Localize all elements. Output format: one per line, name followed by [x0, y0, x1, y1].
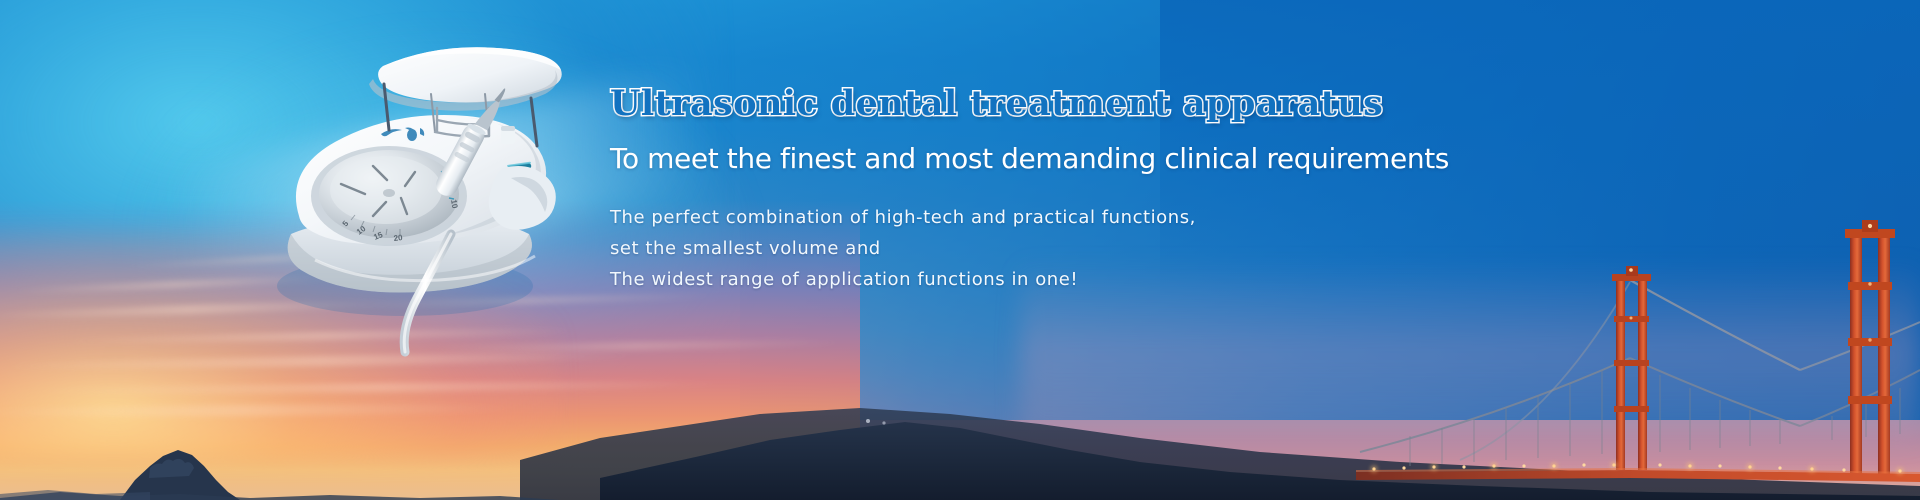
subtitle: To meet the finest and most demanding cl…: [610, 142, 1370, 175]
banner-copy: Ultrasonic dental treatment apparatus To…: [610, 86, 1370, 295]
body-line-2: set the smallest volume and: [610, 233, 1370, 264]
body-copy: The perfect combination of high-tech and…: [610, 202, 1370, 295]
svg-text:20: 20: [393, 233, 403, 243]
promotional-banner: 20 15 10 5 10: [0, 0, 1920, 500]
product-image-ultrasonic-scaler: 20 15 10 5 10: [255, 38, 615, 368]
headline: Ultrasonic dental treatment apparatus: [610, 86, 1370, 123]
body-line-1: The perfect combination of high-tech and…: [610, 202, 1370, 233]
body-line-3: The widest range of application function…: [610, 264, 1370, 295]
